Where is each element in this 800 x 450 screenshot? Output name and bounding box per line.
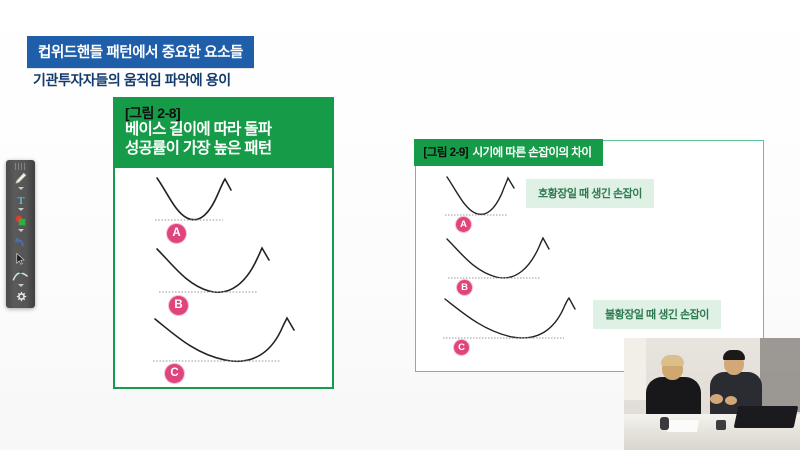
figure-2-9-title: 시기에 따른 손잡이의 차이 (473, 147, 592, 159)
pattern-a-left: A (153, 174, 263, 232)
pattern-label-a-left: A (167, 224, 186, 243)
color-swatches-icon (13, 214, 28, 228)
pattern-b-right: B (444, 235, 564, 287)
undo-tool-button[interactable] (6, 233, 35, 250)
svg-text:T: T (17, 195, 24, 206)
figure-2-8-header: [그림 2-8] 베이스 길이에 따라 돌파 성공률이 가장 높은 패턴 (115, 99, 332, 168)
webcam-person-right-hand-right (725, 396, 737, 405)
color-tool-caret[interactable] (18, 229, 24, 232)
webcam-cup (716, 420, 726, 430)
pattern-label-c-right: C (454, 340, 469, 355)
curve-tool-caret[interactable] (18, 284, 24, 287)
figure-2-8-chart-area: A B C (115, 168, 332, 376)
pen-tool-button[interactable] (6, 170, 35, 187)
figure-2-9-tag: [그림 2-9] (423, 147, 468, 159)
figure-2-8-heading-line1: 베이스 길이에 따라 돌파 (125, 121, 322, 140)
curve-icon (12, 269, 29, 282)
webcam-person-left-body (646, 377, 701, 419)
webcam-overlay[interactable] (624, 338, 800, 450)
slide-canvas: 컵위드핸들 패턴에서 중요한 요소들 기관투자자들의 움직임 파악에 용이 [그… (0, 0, 800, 450)
curve-tool-button[interactable] (6, 267, 35, 284)
webcam-microphone (660, 417, 669, 430)
pattern-label-b-left: B (169, 296, 188, 315)
webcam-wall-panel-right (760, 338, 800, 412)
webcam-paper (667, 420, 699, 432)
gear-icon (14, 290, 28, 304)
settings-tool-button[interactable] (6, 288, 35, 305)
color-tool-button[interactable] (6, 212, 35, 229)
figure-2-9-header: [그림 2-9] 시기에 따른 손잡이의 차이 (414, 139, 603, 166)
text-tool-caret[interactable] (18, 208, 24, 211)
webcam-wall-panel-left (624, 338, 646, 400)
pattern-c-right: C (442, 296, 584, 348)
figure-2-8-card: [그림 2-8] 베이스 길이에 따라 돌파 성공률이 가장 높은 패턴 A B (113, 97, 334, 389)
webcam-person-right-hand-left (710, 394, 723, 404)
webcam-person-left-hair (661, 355, 684, 366)
text-tool-button[interactable]: T (6, 191, 35, 208)
pattern-b-curve-left (153, 245, 283, 303)
slide-title-banner: 컵위드핸들 패턴에서 중요한 요소들 (27, 36, 254, 68)
callout-bear-market-handle: 불황장일 때 생긴 손잡이 (593, 300, 721, 329)
pattern-label-b-right: B (457, 280, 472, 295)
slide-subtitle: 기관투자자들의 움직임 파악에 용이 (33, 70, 231, 90)
cursor-arrow-icon (14, 252, 27, 266)
pen-icon (13, 171, 28, 186)
pattern-a-curve-left (153, 174, 263, 232)
webcam-person-right-hair (723, 350, 745, 360)
text-T-icon: T (14, 193, 28, 207)
pen-tool-caret[interactable] (18, 187, 24, 190)
webcam-laptop (734, 406, 799, 428)
cursor-tool-button[interactable] (6, 250, 35, 267)
pattern-b-left: B (153, 245, 283, 303)
callout-bull-market-handle: 호황장일 때 생긴 손잡이 (526, 179, 654, 208)
figure-2-8-heading-line2: 성공률이 가장 높은 패턴 (125, 140, 322, 159)
undo-arrow-icon (13, 235, 28, 249)
annotation-toolbar[interactable]: T (6, 160, 35, 308)
toolbar-drag-handle[interactable] (15, 163, 26, 170)
slide-title: 컵위드핸들 패턴에서 중요한 요소들 (38, 45, 243, 61)
pattern-c-left: C (151, 316, 303, 372)
pattern-label-a-right: A (456, 217, 471, 232)
pattern-label-c-left: C (165, 364, 184, 383)
figure-2-8-tag: [그림 2-8] (125, 105, 322, 121)
